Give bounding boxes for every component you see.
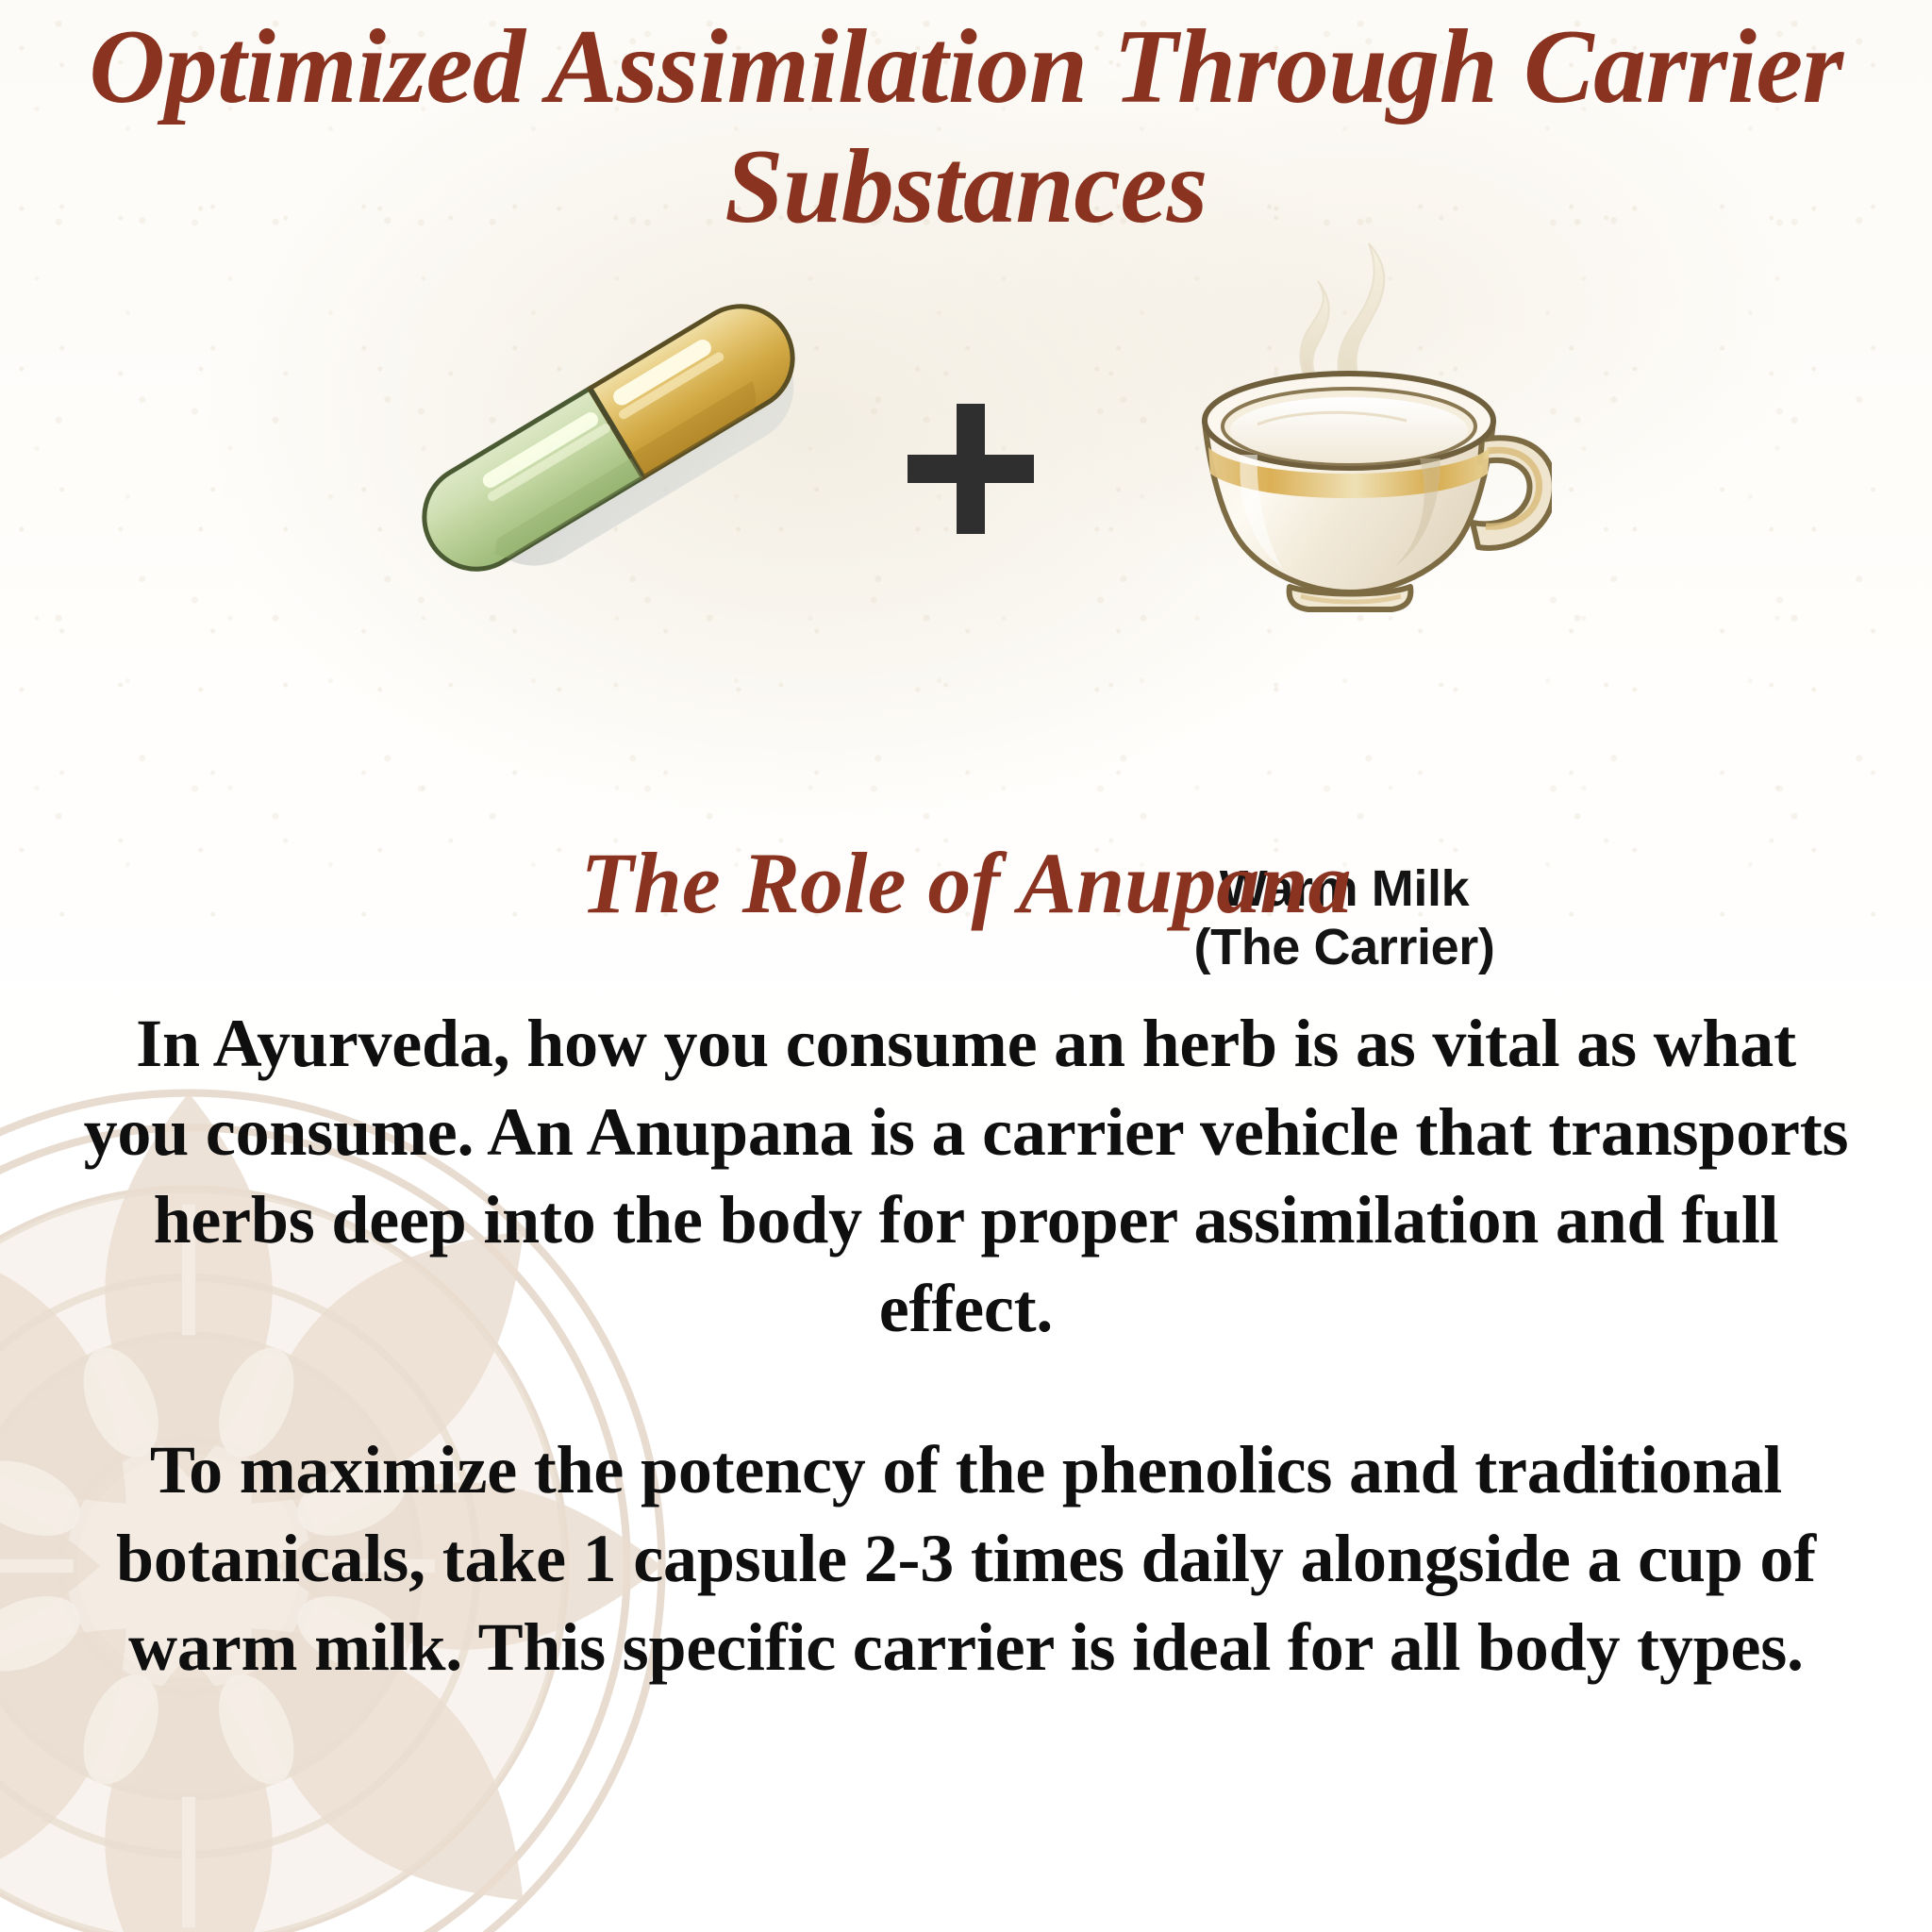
body-paragraph-1: In Ayurveda, how you consume an herb is …: [83, 1000, 1849, 1353]
plus-sign-icon: [908, 404, 1034, 534]
capsule-pill-icon: [406, 274, 840, 585]
body-paragraph-2: To maximize the potency of the phenolics…: [83, 1426, 1849, 1691]
section-heading: The Role of Anupana: [0, 836, 1932, 931]
capsule-illustration: [406, 274, 840, 585]
page-title: Optimized Assimilation Through Carrier S…: [0, 8, 1932, 246]
body-copy: In Ayurveda, how you consume an herb is …: [83, 1000, 1849, 1691]
steaming-teacup-icon: [1184, 236, 1552, 613]
visual-equation-row: Warm Milk (The Carrier): [0, 226, 1932, 623]
infographic-poster: Optimized Assimilation Through Carrier S…: [0, 0, 1932, 1932]
teacup-illustration: [1184, 236, 1552, 613]
